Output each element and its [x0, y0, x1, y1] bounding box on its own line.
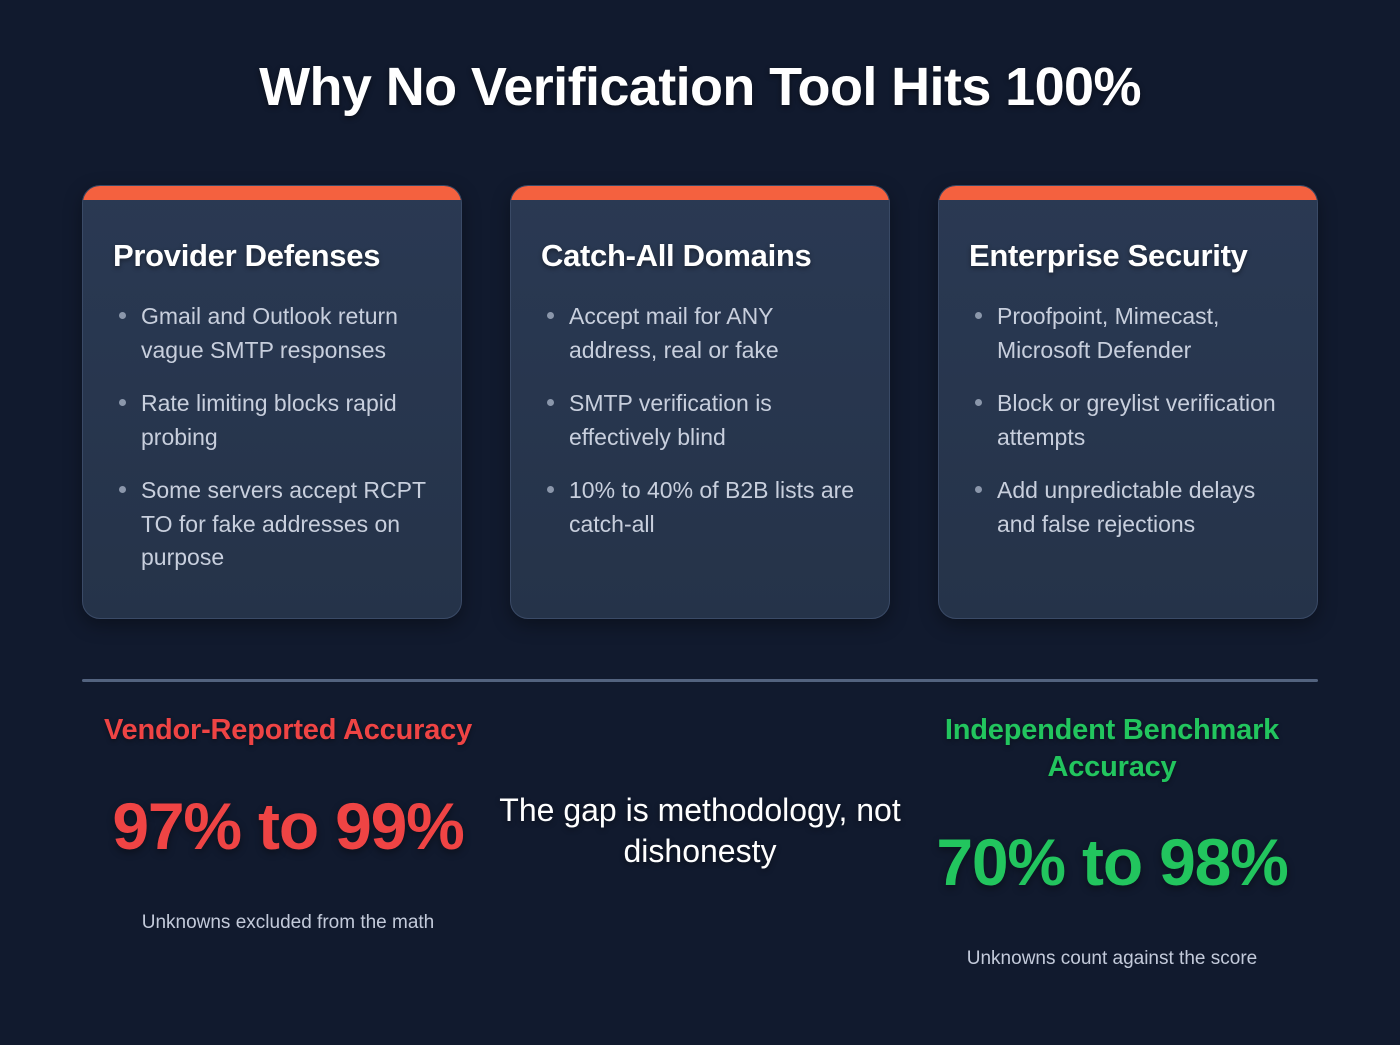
stat-label: Vendor-Reported Accuracy	[82, 712, 494, 749]
section-divider	[82, 679, 1318, 682]
card-title: Enterprise Security	[969, 238, 1287, 274]
bullet-dot-icon	[547, 486, 554, 493]
card-bullet-list: Gmail and Outlook return vague SMTP resp…	[113, 300, 431, 575]
list-item-label: Rate limiting blocks rapid probing	[141, 390, 397, 450]
list-item-label: Accept mail for ANY address, real or fak…	[569, 303, 779, 363]
bullet-dot-icon	[119, 399, 126, 406]
card-body: Enterprise Security Proofpoint, Mimecast…	[939, 186, 1317, 561]
list-item-label: Gmail and Outlook return vague SMTP resp…	[141, 303, 398, 363]
stat-value: 70% to 98%	[906, 829, 1318, 895]
list-item: Proofpoint, Mimecast, Microsoft Defender	[969, 300, 1287, 367]
card-body: Provider Defenses Gmail and Outlook retu…	[83, 186, 461, 595]
list-item: SMTP verification is effectively blind	[541, 387, 859, 454]
card-title: Provider Defenses	[113, 238, 431, 274]
stat-value: 97% to 99%	[82, 793, 494, 859]
comparison-column-vendor: Vendor-Reported Accuracy 97% to 99% Unkn…	[82, 712, 494, 935]
bullet-dot-icon	[119, 312, 126, 319]
card-bullet-list: Accept mail for ANY address, real or fak…	[541, 300, 859, 541]
card-accent-bar	[511, 186, 889, 200]
list-item: 10% to 40% of B2B lists are catch-all	[541, 474, 859, 541]
list-item-label: 10% to 40% of B2B lists are catch-all	[569, 477, 854, 537]
card-title: Catch-All Domains	[541, 238, 859, 274]
list-item: Rate limiting blocks rapid probing	[113, 387, 431, 454]
list-item: Gmail and Outlook return vague SMTP resp…	[113, 300, 431, 367]
card-body: Catch-All Domains Accept mail for ANY ad…	[511, 186, 889, 561]
bullet-dot-icon	[119, 486, 126, 493]
card-enterprise-security: Enterprise Security Proofpoint, Mimecast…	[938, 185, 1318, 619]
bullet-dot-icon	[547, 312, 554, 319]
stat-label: Independent Benchmark Accuracy	[906, 712, 1318, 785]
card-provider-defenses: Provider Defenses Gmail and Outlook retu…	[82, 185, 462, 619]
comparison-column-benchmark: Independent Benchmark Accuracy 70% to 98…	[906, 712, 1318, 972]
list-item-label: SMTP verification is effectively blind	[569, 390, 772, 450]
list-item-label: Proofpoint, Mimecast, Microsoft Defender	[997, 303, 1219, 363]
list-item: Some servers accept RCPT TO for fake add…	[113, 474, 431, 575]
list-item: Block or greylist verification attempts	[969, 387, 1287, 454]
comparison-column-middle: The gap is methodology, not dishonesty	[494, 712, 906, 872]
list-item: Add unpredictable delays and false rejec…	[969, 474, 1287, 541]
reasons-card-grid: Provider Defenses Gmail and Outlook retu…	[82, 185, 1318, 619]
card-accent-bar	[83, 186, 461, 200]
list-item-label: Add unpredictable delays and false rejec…	[997, 477, 1255, 537]
gap-statement: The gap is methodology, not dishonesty	[494, 712, 906, 872]
accuracy-comparison: Vendor-Reported Accuracy 97% to 99% Unkn…	[82, 712, 1318, 972]
card-bullet-list: Proofpoint, Mimecast, Microsoft Defender…	[969, 300, 1287, 541]
stat-note: Unknowns excluded from the math	[82, 911, 494, 936]
list-item: Accept mail for ANY address, real or fak…	[541, 300, 859, 367]
bullet-dot-icon	[547, 399, 554, 406]
list-item-label: Some servers accept RCPT TO for fake add…	[141, 477, 426, 570]
bullet-dot-icon	[975, 399, 982, 406]
bullet-dot-icon	[975, 312, 982, 319]
page-title: Why No Verification Tool Hits 100%	[0, 0, 1400, 117]
card-catch-all-domains: Catch-All Domains Accept mail for ANY ad…	[510, 185, 890, 619]
bullet-dot-icon	[975, 486, 982, 493]
card-accent-bar	[939, 186, 1317, 200]
stat-note: Unknowns count against the score	[906, 947, 1318, 972]
list-item-label: Block or greylist verification attempts	[997, 390, 1276, 450]
